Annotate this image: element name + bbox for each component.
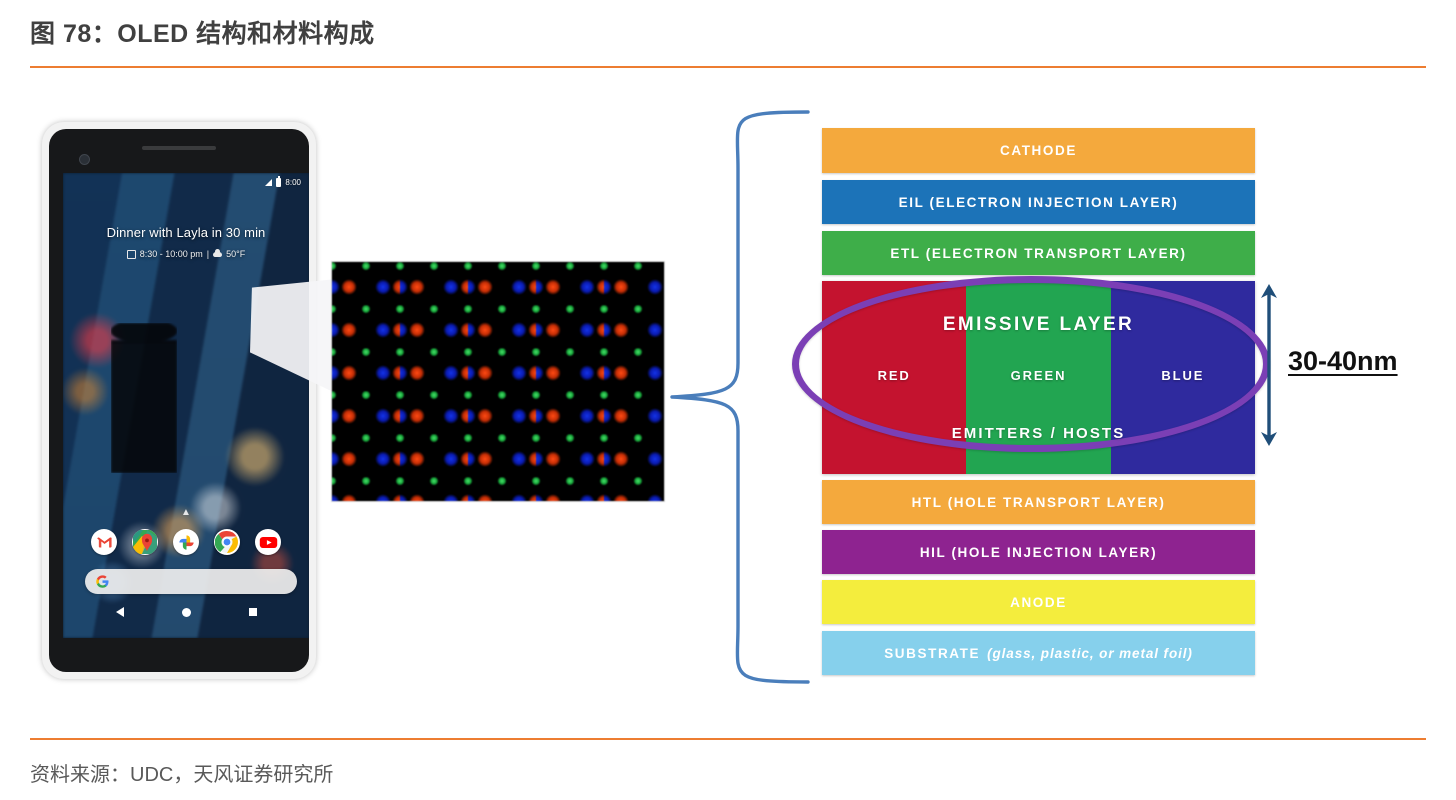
layer-hil: HIL (HOLE INJECTION LAYER): [822, 530, 1255, 574]
chrome-icon[interactable]: [214, 529, 240, 555]
layer-anode: ANODE: [822, 580, 1255, 624]
signal-icon: [265, 179, 272, 186]
home-icon[interactable]: [182, 608, 191, 617]
notification-separator: |: [207, 249, 209, 259]
footer-divider: [30, 738, 1426, 740]
google-g-icon: [95, 574, 110, 589]
layer-label: SUBSTRATE: [884, 646, 980, 661]
phone-mockup: 8:00 Dinner with Layla in 30 min 8:30 - …: [42, 122, 316, 679]
status-clock: 8:00: [285, 178, 301, 187]
layer-sublabel: (glass, plastic, or metal foil): [987, 646, 1193, 661]
notification-time: 8:30 - 10:00 pm: [140, 249, 203, 259]
title-divider: [30, 66, 1426, 68]
phone-screen: 8:00 Dinner with Layla in 30 min 8:30 - …: [63, 173, 309, 638]
earpiece-icon: [142, 146, 216, 150]
phone-body: 8:00 Dinner with Layla in 30 min 8:30 - …: [49, 129, 309, 672]
thickness-label: 30-40nm: [1288, 346, 1398, 377]
source-note: 资料来源：UDC，天风证券研究所: [30, 758, 333, 787]
notification-temperature: 50°F: [226, 249, 245, 259]
gmail-icon[interactable]: [91, 529, 117, 555]
emissive-column-red: RED: [822, 281, 966, 474]
chevron-up-icon[interactable]: ▲: [181, 507, 191, 518]
notification-subline: 8:30 - 10:00 pm | 50°F: [63, 249, 309, 259]
status-bar: 8:00: [265, 178, 301, 187]
layer-emissive: RED GREEN BLUE EMISSIVE LAYER EMITTERS /…: [822, 281, 1255, 474]
emissive-column-label: BLUE: [1111, 368, 1255, 383]
brace-connector: [668, 108, 814, 686]
layer-label: HTL (HOLE TRANSPORT LAYER): [912, 495, 1166, 510]
maps-icon[interactable]: [132, 529, 158, 555]
layer-label: HIL (HOLE INJECTION LAYER): [920, 545, 1157, 560]
layer-label: ANODE: [1010, 595, 1067, 610]
thickness-arrow-icon: [1256, 282, 1282, 448]
emissive-column-label: RED: [822, 368, 966, 383]
oled-layer-stack: CATHODE EIL (ELECTRON INJECTION LAYER) E…: [822, 128, 1255, 675]
notification-headline: Dinner with Layla in 30 min: [63, 225, 309, 240]
photos-icon[interactable]: [173, 529, 199, 555]
pixel-macro-image: [331, 261, 665, 502]
back-icon[interactable]: [116, 607, 124, 617]
search-input[interactable]: [85, 569, 297, 594]
battery-icon: [276, 178, 281, 187]
emissive-column-blue: BLUE: [1111, 281, 1255, 474]
recents-icon[interactable]: [249, 608, 257, 616]
umbrella-silhouette: [111, 323, 177, 473]
emissive-column-green: GREEN: [966, 281, 1110, 474]
layer-substrate: SUBSTRATE (glass, plastic, or metal foil…: [822, 631, 1255, 675]
app-dock: [63, 529, 309, 555]
layer-label: ETL (ELECTRON TRANSPORT LAYER): [890, 246, 1186, 261]
front-camera-icon: [79, 154, 90, 165]
layer-eil: EIL (ELECTRON INJECTION LAYER): [822, 180, 1255, 224]
emissive-column-label: GREEN: [966, 368, 1110, 383]
layer-cathode: CATHODE: [822, 128, 1255, 173]
navigation-bar: [63, 607, 309, 617]
emissive-layer-footer: EMITTERS / HOSTS: [822, 425, 1255, 442]
layer-label: EIL (ELECTRON INJECTION LAYER): [899, 195, 1179, 210]
layer-label: CATHODE: [1000, 143, 1077, 158]
calendar-icon: [127, 250, 136, 259]
layer-etl: ETL (ELECTRON TRANSPORT LAYER): [822, 231, 1255, 275]
emissive-layer-title: EMISSIVE LAYER: [822, 314, 1255, 336]
youtube-icon[interactable]: [255, 529, 281, 555]
page-title: 图 78：OLED 结构和材料构成: [30, 14, 375, 50]
layer-htl: HTL (HOLE TRANSPORT LAYER): [822, 480, 1255, 524]
cloud-icon: [213, 252, 222, 257]
